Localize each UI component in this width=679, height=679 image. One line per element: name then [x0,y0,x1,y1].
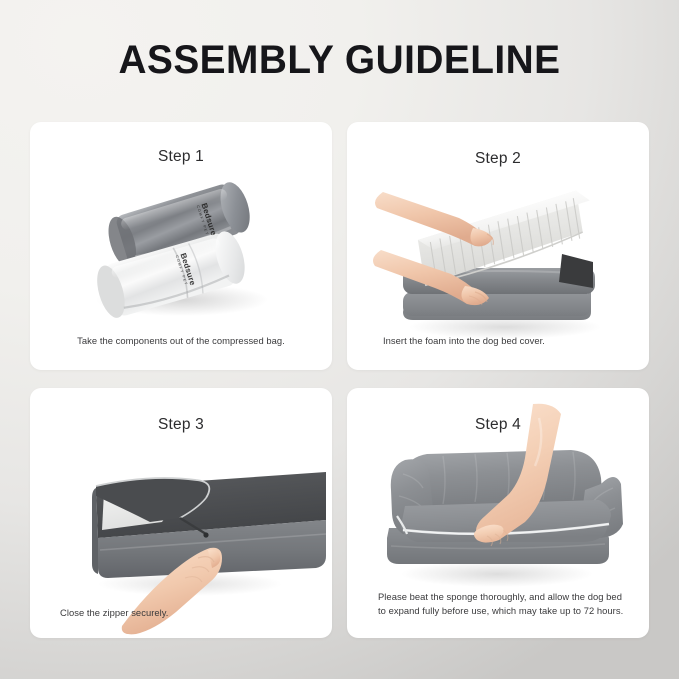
step-2-caption: Insert the foam into the dog bed cover. [383,334,633,348]
close-zipper-photo [30,388,332,638]
step-card-2: Step 2 [347,122,649,370]
assembly-guideline-page: ASSEMBLY GUIDELINE Step 1 [0,0,679,679]
step-1-caption: Take the components out of the compresse… [30,334,332,348]
page-title: ASSEMBLY GUIDELINE [10,38,669,83]
compressed-bags-photo: Bedsure COMFY PET Bedsure COMFY PET [30,122,332,370]
insert-foam-photo [347,122,649,370]
steps-grid: Step 1 [30,122,649,650]
step-card-4: Step 4 [347,388,649,638]
step-card-1: Step 1 [30,122,332,370]
step-card-3: Step 3 [30,388,332,638]
step-4-caption: Please beat the sponge thoroughly, and a… [378,590,624,617]
step-3-caption: Close the zipper securely. [60,606,310,620]
